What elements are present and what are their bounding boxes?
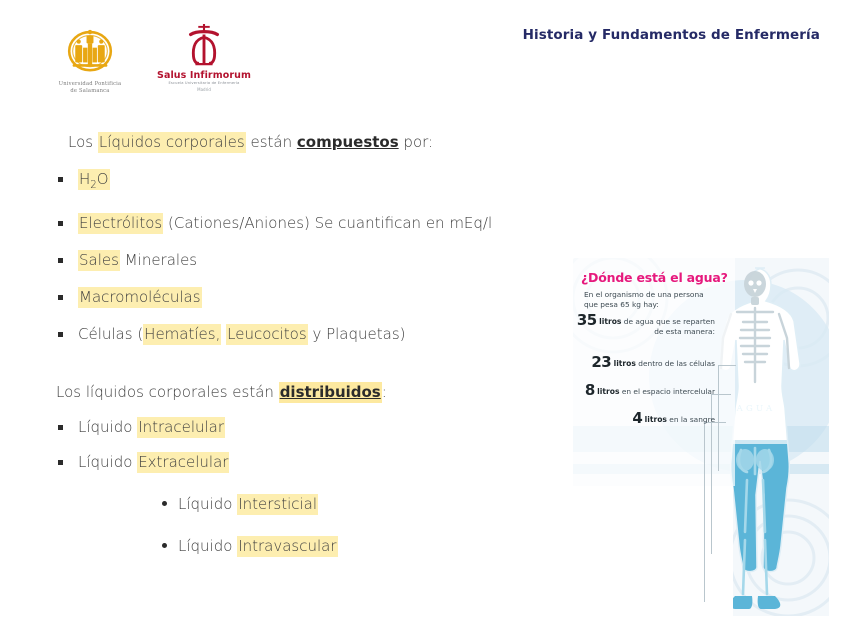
bullet-intersticial-text: Líquido	[178, 495, 237, 513]
list-item: Líquido Intersticial	[178, 494, 560, 514]
stat-35-value: 35	[577, 311, 597, 329]
lead-paragraph-1: Los Líquidos corporales están compuestos…	[68, 132, 560, 152]
lead1-highlight: Líquidos corporales	[98, 132, 246, 153]
upsa-seal-icon	[64, 26, 116, 78]
slide-header: Universidad Pontificia de Salamanca Salu…	[0, 0, 848, 112]
stat-8-text: en el espacio intercelular	[619, 387, 715, 396]
logo-upsa: Universidad Pontificia de Salamanca	[44, 26, 136, 95]
slide: Universidad Pontificia de Salamanca Salu…	[0, 0, 848, 636]
bullet-extracelular-highlight: Extracelular	[137, 452, 229, 473]
infographic-subtitle: En el organismo de una persona que pesa …	[584, 290, 716, 309]
bullet-macromoleculas-highlight: Macromoléculas	[78, 287, 202, 308]
lead-paragraph-2: Los líquidos corporales están distribuid…	[56, 382, 560, 402]
stat-8-litros: 8 litros en el espacio intercelular	[575, 386, 715, 397]
logo-salus: Salus Infirmorum Escuela Universitaria d…	[152, 22, 256, 92]
stat-4-text: en la sangre	[667, 415, 715, 424]
lead2-suffix: :	[382, 383, 387, 401]
distribution-list: Líquido Intracelular Líquido Extracelula…	[0, 417, 560, 472]
bullet-sales-highlight: Sales	[78, 250, 120, 271]
bullet-celulas-pre: Células (	[78, 325, 143, 343]
bullet-leucocitos-highlight: Leucocitos	[226, 324, 308, 345]
logo-salus-name: Salus Infirmorum	[152, 70, 256, 81]
bullet-h2o-label: H2O	[78, 169, 110, 190]
composition-list: H2O Electrólitos (Cationes/Aniones) Se c…	[0, 169, 560, 344]
stat-35-text: de agua que se reparten de esta manera:	[621, 317, 715, 336]
list-item: Electrólitos (Cationes/Aniones) Se cuant…	[78, 213, 560, 233]
bullet-electrolitos-highlight: Electrólitos	[78, 213, 163, 234]
bullet-electrolitos-text: (Cationes/Aniones) Se cuantifican en mEq…	[163, 214, 492, 232]
stat-23-litros: 23 litros dentro de las células	[575, 358, 715, 369]
stat-4-unit: litros	[645, 415, 667, 424]
stat-23-text: dentro de las células	[636, 359, 715, 368]
bullet-intracelular-text: Líquido	[78, 418, 137, 436]
h2o-subscript: 2	[90, 180, 96, 191]
lead1-suffix: por:	[399, 133, 433, 151]
stat-4-litros: 4 litros en la sangre	[575, 414, 715, 425]
lead2-emphasis: distribuidos	[279, 382, 382, 403]
lead1-prefix: Los	[68, 133, 98, 151]
stat-23-unit: litros	[614, 359, 636, 368]
bullet-intravascular-text: Líquido	[178, 537, 237, 555]
bullet-intracelular-highlight: Intracelular	[137, 417, 225, 438]
bullet-hematies-highlight: Hematíes,	[143, 324, 221, 345]
lead1-emphasis: compuestos	[297, 133, 399, 151]
course-title: Historia y Fundamentos de Enfermería	[523, 27, 820, 43]
logo-salus-subtitle: Escuela Universitaria de Enfermería	[151, 81, 257, 86]
list-item: Líquido Intravascular	[178, 536, 560, 556]
bullet-sales-text: Minerales	[120, 251, 197, 269]
slide-content: Los Líquidos corporales están compuestos…	[0, 118, 560, 556]
stat-4-value: 4	[632, 409, 642, 427]
infographic-title: ¿Dónde está el agua?	[581, 270, 728, 285]
stat-23-value: 23	[591, 353, 611, 371]
list-item: H2O	[78, 169, 560, 196]
stat-35-litros: 35 litros de agua que se reparten de est…	[575, 316, 715, 336]
bullet-extracelular-text: Líquido	[78, 453, 137, 471]
stat-8-unit: litros	[597, 387, 619, 396]
bullet-intravascular-highlight: Intravascular	[237, 536, 337, 557]
bullet-intersticial-highlight: Intersticial	[237, 494, 318, 515]
list-item: Macromoléculas	[78, 287, 560, 307]
extracellular-sublist: Líquido Intersticial Líquido Intravascul…	[0, 494, 560, 556]
list-item: Sales Minerales	[78, 250, 560, 270]
stat-35-unit: litros	[599, 317, 621, 326]
lead2-prefix: Los líquidos corporales están	[56, 383, 279, 401]
list-item: Líquido Intracelular	[78, 417, 560, 437]
leader-line-3	[704, 422, 726, 602]
lead1-mid: están	[246, 133, 297, 151]
logo-salus-subtitle2: Madrid	[152, 87, 256, 92]
logo-upsa-caption: Universidad Pontificia de Salamanca	[44, 81, 136, 95]
list-item: Líquido Extracelular	[78, 452, 560, 472]
list-item: Células (Hematíes, Leucocitos y Plaqueta…	[78, 324, 560, 344]
stat-8-value: 8	[585, 381, 595, 399]
water-infographic: AGUA ¿Dónde está el agua? En el organism…	[573, 258, 829, 616]
bullet-celulas-post: y Plaquetas)	[308, 325, 406, 343]
salus-infirmorum-icon	[183, 22, 225, 68]
